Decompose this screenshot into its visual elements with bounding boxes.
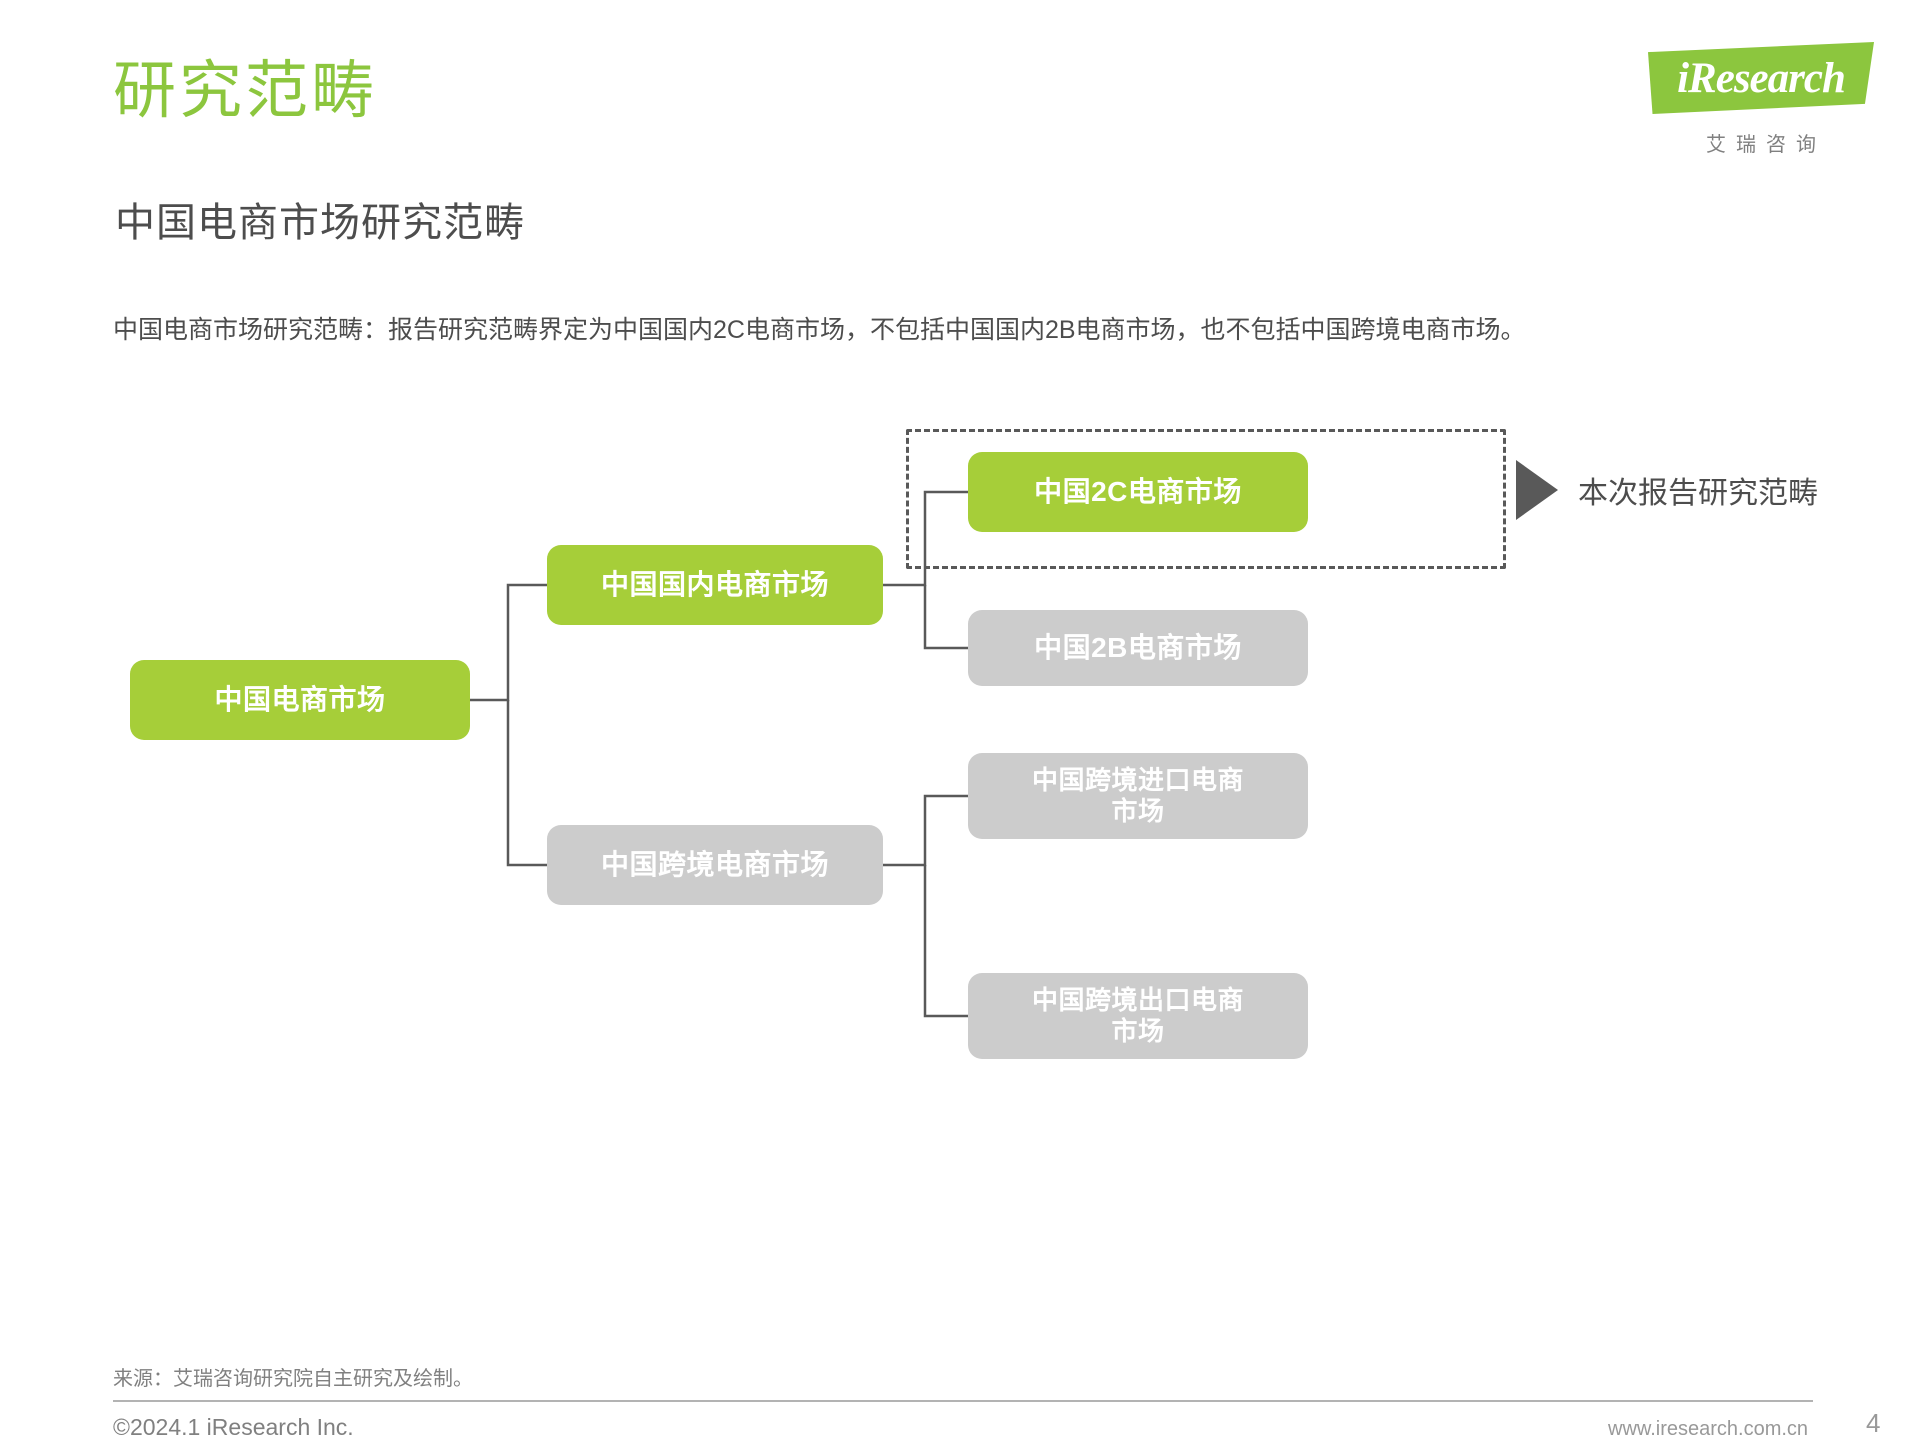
node-crossborder-ecommerce-market[interactable]: 中国跨境电商市场 bbox=[547, 825, 883, 905]
scope-callout: 本次报告研究范畴 bbox=[1516, 460, 1818, 520]
intro-paragraph: 中国电商市场研究范畴：报告研究范畴界定为中国国内2C电商市场，不包括中国国内2B… bbox=[113, 310, 1526, 346]
website-url: www.iresearch.com.cn bbox=[1608, 1418, 1808, 1441]
node-domestic-ecommerce-market[interactable]: 中国国内电商市场 bbox=[547, 545, 883, 625]
footer-divider bbox=[113, 1400, 1813, 1402]
research-scope-tree-diagram: 中国电商市场 中国国内电商市场 中国跨境电商市场 中国2C电商市场 中国2B电商… bbox=[0, 430, 1920, 1310]
node-crossborder-export-market[interactable]: 中国跨境出口电商市场 bbox=[968, 973, 1308, 1059]
node-china-2c-ecommerce-market[interactable]: 中国2C电商市场 bbox=[968, 452, 1308, 532]
iresearch-logo: iResearch 艾瑞咨询 bbox=[1648, 42, 1878, 172]
triangle-arrow-icon bbox=[1516, 460, 1558, 520]
callout-label: 本次报告研究范畴 bbox=[1578, 468, 1818, 512]
node-crossborder-import-market[interactable]: 中国跨境进口电商市场 bbox=[968, 753, 1308, 839]
logo-chinese-name: 艾瑞咨询 bbox=[1648, 128, 1874, 157]
source-note: 来源：艾瑞咨询研究院自主研究及绘制。 bbox=[113, 1362, 473, 1391]
node-china-ecommerce-market[interactable]: 中国电商市场 bbox=[130, 660, 470, 740]
page-subtitle: 中国电商市场研究范畴 bbox=[115, 190, 525, 248]
node-china-2b-ecommerce-market[interactable]: 中国2B电商市场 bbox=[968, 610, 1308, 686]
page-number: 4 bbox=[1866, 1408, 1880, 1439]
page-title: 研究范畴 bbox=[113, 55, 377, 127]
copyright-text: ©2024.1 iResearch Inc. bbox=[113, 1414, 354, 1441]
logo-wordmark: iResearch bbox=[1648, 42, 1874, 114]
